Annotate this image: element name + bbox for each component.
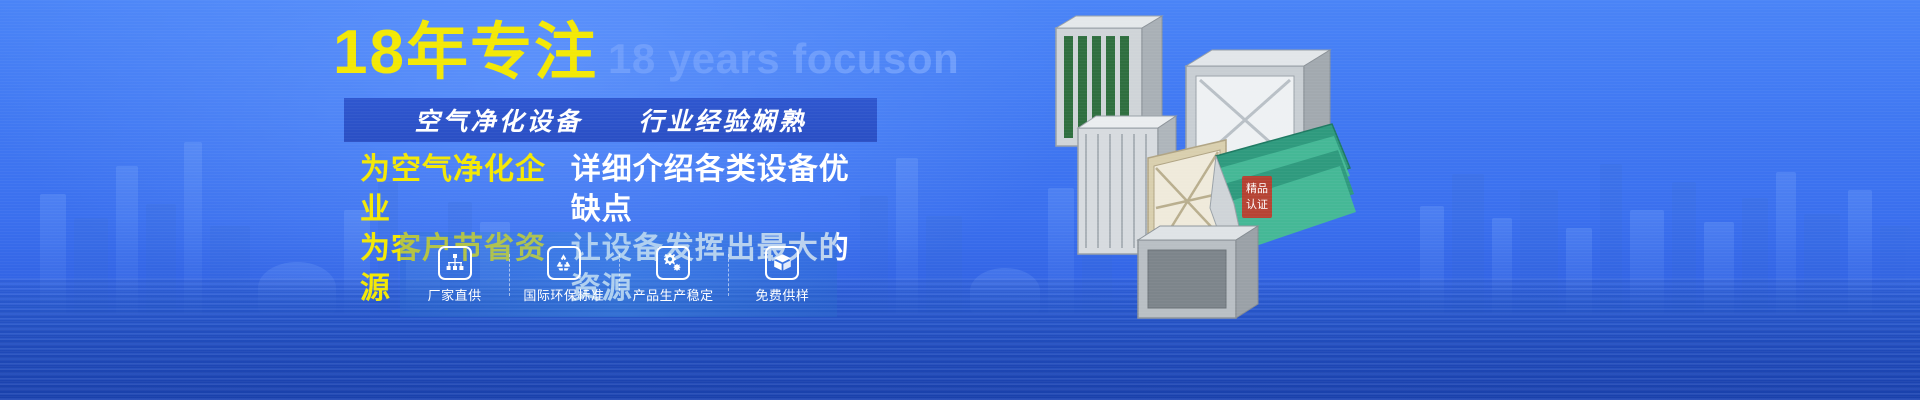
feature-label-3: 免费供样 (755, 285, 809, 304)
slogan-right: 行业经验娴熟 (639, 102, 807, 138)
feature-item-3: 免费供样 (728, 246, 837, 304)
promo-banner: 精品 认证 18年专注 18 years focuson 空气净化设备 行业经验… (0, 0, 1920, 400)
feature-label-2: 产品生产稳定 (633, 285, 714, 304)
gears-icon (656, 246, 690, 280)
metal-housing-filter (1138, 226, 1258, 318)
feature-label-1: 国际环保标准 (523, 285, 604, 304)
feature-item-0: 厂家直供 (400, 246, 509, 304)
slogan-left: 空气净化设备 (414, 102, 582, 138)
feature-item-1: 国际环保标准 (509, 246, 618, 304)
org-chart-icon (438, 246, 472, 280)
water-reflection-decoration (0, 278, 1920, 400)
headline: 18年专注 18 years focuson (333, 22, 959, 84)
recycle-icon (547, 246, 581, 280)
feature-label-0: 厂家直供 (428, 285, 482, 304)
body-line-1-highlight: 为空气净化企业 (360, 150, 557, 229)
slogan-bar: 空气净化设备 行业经验娴熟 (344, 98, 877, 142)
headline-en: 18 years focuson (608, 38, 959, 80)
open-box-icon (765, 246, 799, 280)
feature-item-2: 产品生产稳定 (619, 246, 728, 304)
product-photo-group: 精品 认证 (1020, 8, 1400, 338)
body-line-1-text: 详细介绍各类设备优缺点 (571, 150, 880, 229)
feature-strip: 厂家直供 国际环保标准 产品 (400, 232, 837, 317)
body-line-1: 为空气净化企业 详细介绍各类设备优缺点 (360, 150, 880, 229)
product-stamp: 精品 认证 (1242, 176, 1272, 218)
svg-text:认证: 认证 (1246, 198, 1268, 211)
product-illustrations: 精品 认证 (1020, 8, 1400, 338)
headline-cn: 18年专注 (333, 22, 598, 84)
svg-text:精品: 精品 (1246, 182, 1268, 195)
